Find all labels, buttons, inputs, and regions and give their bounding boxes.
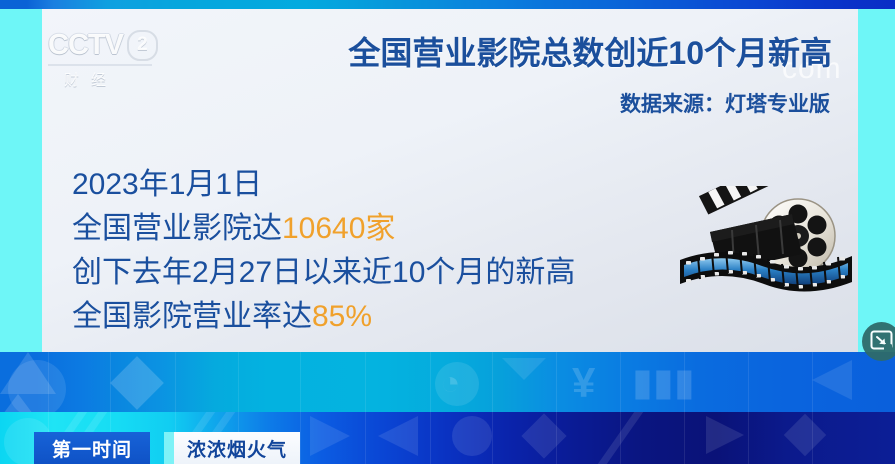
body-line-2-highlight: 10640家 xyxy=(282,212,395,245)
cctv-channel-name: 财经 xyxy=(48,64,152,90)
decor-chevron xyxy=(706,416,744,454)
decor-chevron xyxy=(812,360,852,400)
decor-chevron xyxy=(502,358,546,380)
broadcast-screen: ◔ ¥ ▮▮▮ CCTV xyxy=(0,0,895,464)
decor-diamond xyxy=(110,356,164,410)
body-line-2: 全国营业影院达10640家 xyxy=(72,207,575,251)
yen-symbol-glyph: ¥ xyxy=(572,362,595,404)
pie-chart-glyph: ◔ xyxy=(440,366,461,400)
card-left-accent-bar xyxy=(0,9,42,352)
cctv-network-label: CCTV xyxy=(48,31,123,60)
data-source-label: 数据来源：灯塔专业版 xyxy=(620,88,830,118)
decor-chevron xyxy=(378,416,418,456)
decor-circle xyxy=(452,416,492,456)
ticker-topic-label: 浓浓烟火气 xyxy=(187,435,287,462)
body-line-3-prefix: 创下去年2月27日以来近10个月的新高 xyxy=(72,256,575,289)
bar-chart-glyph: ▮▮▮ xyxy=(632,364,695,402)
body-line-3: 创下去年2月27日以来近10个月的新高 xyxy=(72,251,575,295)
body-line-1: 2023年1月1日 xyxy=(72,163,575,207)
body-line-4-highlight: 85% xyxy=(312,300,372,333)
body-line-4: 全国影院营业率达85% xyxy=(72,295,575,339)
restore-down-button[interactable] xyxy=(862,322,895,361)
restore-down-icon xyxy=(870,330,893,353)
decor-diamond xyxy=(521,413,566,458)
decor-circle xyxy=(8,360,66,412)
body-text-block: 2023年1月1日 全国营业影院达10640家 创下去年2月27日以来近10个月… xyxy=(72,163,575,339)
body-line-1-prefix: 2023年1月1日 xyxy=(72,168,262,201)
body-line-2-prefix: 全国营业影院达 xyxy=(72,212,282,245)
film-graphic xyxy=(676,186,858,302)
cctv-channel-number: 2 xyxy=(127,30,158,61)
page-title: 全国营业影院总数创近10个月新高 xyxy=(348,28,832,74)
card-right-accent-bar xyxy=(858,9,895,352)
ticker-program-label: 第一时间 xyxy=(52,435,132,462)
ticker-program-chip[interactable]: 第一时间 xyxy=(34,432,150,464)
top-gradient-strip xyxy=(0,0,895,9)
cctv-channel-logo: CCTV 2 财经 xyxy=(48,30,168,82)
body-line-4-prefix: 全国影院营业率达 xyxy=(72,300,312,333)
ticker-topic-chip[interactable]: 浓浓烟火气 xyxy=(174,432,300,464)
ticker-divider xyxy=(164,432,174,464)
background-pattern-band-upper: ◔ ¥ ▮▮▮ xyxy=(0,352,895,412)
decor-chevron xyxy=(310,416,350,456)
decor-diamond xyxy=(784,414,826,456)
